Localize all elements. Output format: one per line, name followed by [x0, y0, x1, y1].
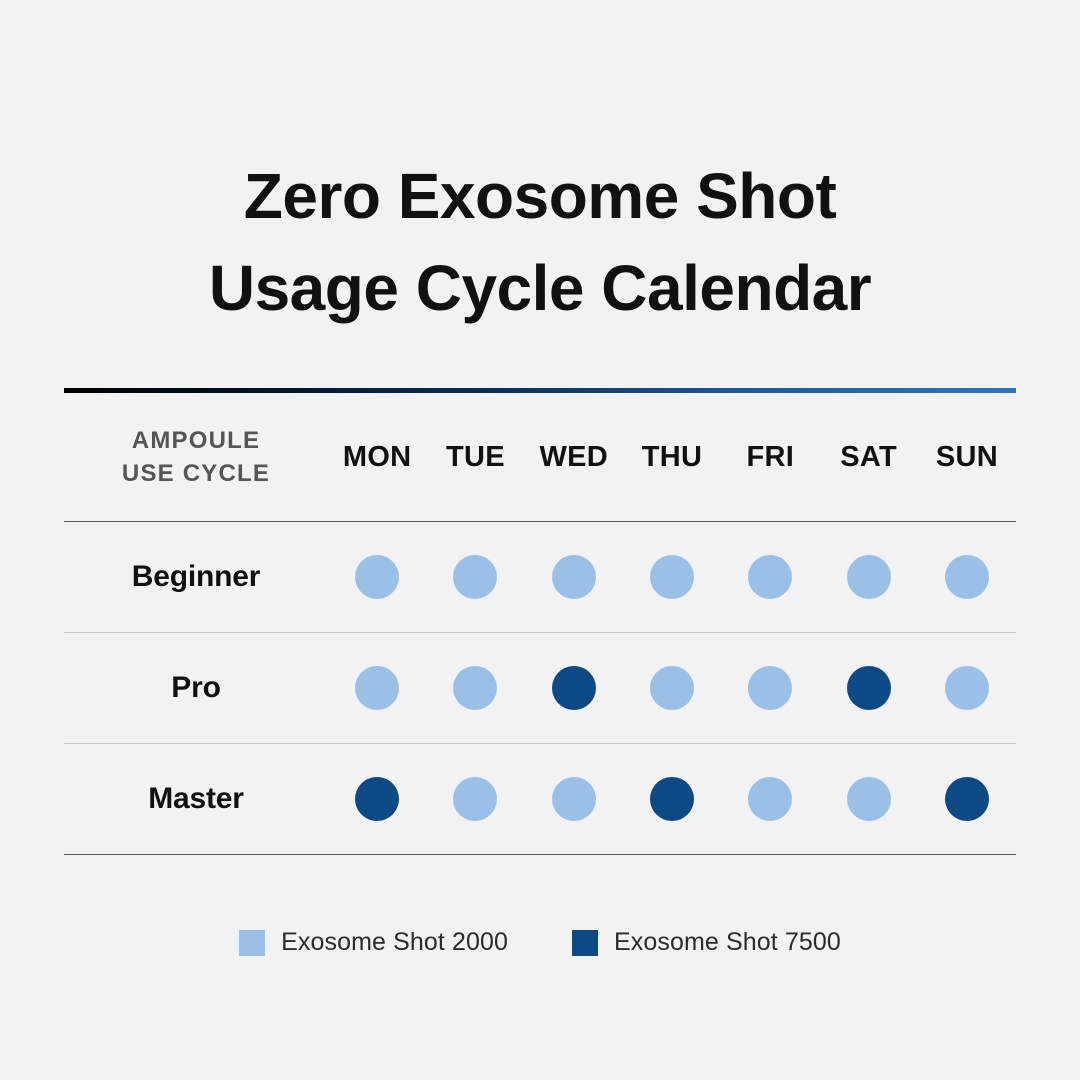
day-header-tue: TUE	[426, 393, 524, 522]
corner-header-line-1: AMPOULE	[64, 424, 328, 457]
dot-icon	[355, 666, 399, 710]
dot-icon	[847, 666, 891, 710]
cell-pro-fri	[721, 633, 819, 744]
dot-icon	[355, 555, 399, 599]
legend-swatch-icon	[572, 930, 598, 956]
cell-beginner-wed	[525, 522, 623, 633]
cell-pro-thu	[623, 633, 721, 744]
cell-master-tue	[426, 744, 524, 855]
cell-pro-sat	[819, 633, 917, 744]
cell-pro-sun	[918, 633, 1016, 744]
day-header-thu: THU	[623, 393, 721, 522]
table-header-row: AMPOULE USE CYCLE MON TUE WED THU FRI SA…	[64, 393, 1016, 522]
day-header-sat: SAT	[819, 393, 917, 522]
legend-label: Exosome Shot 2000	[281, 928, 508, 957]
cell-master-thu	[623, 744, 721, 855]
table-row: Pro	[64, 633, 1016, 744]
row-label-master: Master	[64, 744, 328, 855]
dot-icon	[650, 777, 694, 821]
dot-icon	[650, 666, 694, 710]
dot-icon	[650, 555, 694, 599]
cell-master-mon	[328, 744, 426, 855]
dot-icon	[748, 666, 792, 710]
dot-icon	[748, 555, 792, 599]
page-title: Zero Exosome Shot Usage Cycle Calendar	[0, 150, 1080, 334]
day-header-sun: SUN	[918, 393, 1016, 522]
day-header-mon: MON	[328, 393, 426, 522]
cell-beginner-sun	[918, 522, 1016, 633]
legend-item-exosome-shot-2000: Exosome Shot 2000	[239, 928, 508, 957]
dot-icon	[453, 777, 497, 821]
title-line-1: Zero Exosome Shot	[0, 150, 1080, 242]
cell-beginner-sat	[819, 522, 917, 633]
dot-icon	[552, 666, 596, 710]
row-label-pro: Pro	[64, 633, 328, 744]
table-body: Beginner Pro	[64, 522, 1016, 855]
legend-item-exosome-shot-7500: Exosome Shot 7500	[572, 928, 841, 957]
cell-master-sun	[918, 744, 1016, 855]
dot-icon	[453, 555, 497, 599]
dot-icon	[355, 777, 399, 821]
cell-master-wed	[525, 744, 623, 855]
table-row: Beginner	[64, 522, 1016, 633]
dot-icon	[945, 555, 989, 599]
cell-beginner-mon	[328, 522, 426, 633]
day-header-fri: FRI	[721, 393, 819, 522]
cell-pro-mon	[328, 633, 426, 744]
corner-header-ampoule-use-cycle: AMPOULE USE CYCLE	[64, 393, 328, 522]
dot-icon	[847, 555, 891, 599]
day-header-wed: WED	[525, 393, 623, 522]
cell-beginner-fri	[721, 522, 819, 633]
dot-icon	[453, 666, 497, 710]
cell-beginner-thu	[623, 522, 721, 633]
cell-master-fri	[721, 744, 819, 855]
title-line-2: Usage Cycle Calendar	[0, 242, 1080, 334]
dot-icon	[552, 777, 596, 821]
legend-swatch-icon	[239, 930, 265, 956]
dot-icon	[748, 777, 792, 821]
cell-master-sat	[819, 744, 917, 855]
cell-pro-wed	[525, 633, 623, 744]
usage-cycle-table: AMPOULE USE CYCLE MON TUE WED THU FRI SA…	[64, 388, 1016, 855]
calendar-infographic-page: Zero Exosome Shot Usage Cycle Calendar A…	[0, 0, 1080, 1080]
row-label-beginner: Beginner	[64, 522, 328, 633]
dot-icon	[552, 555, 596, 599]
cell-pro-tue	[426, 633, 524, 744]
dot-icon	[847, 777, 891, 821]
dot-icon	[945, 666, 989, 710]
corner-header-line-2: USE CYCLE	[64, 457, 328, 490]
legend-label: Exosome Shot 7500	[614, 928, 841, 957]
dot-icon	[945, 777, 989, 821]
table-row: Master	[64, 744, 1016, 855]
calendar-table: AMPOULE USE CYCLE MON TUE WED THU FRI SA…	[64, 393, 1016, 855]
cell-beginner-tue	[426, 522, 524, 633]
legend: Exosome Shot 2000 Exosome Shot 7500	[0, 928, 1080, 957]
